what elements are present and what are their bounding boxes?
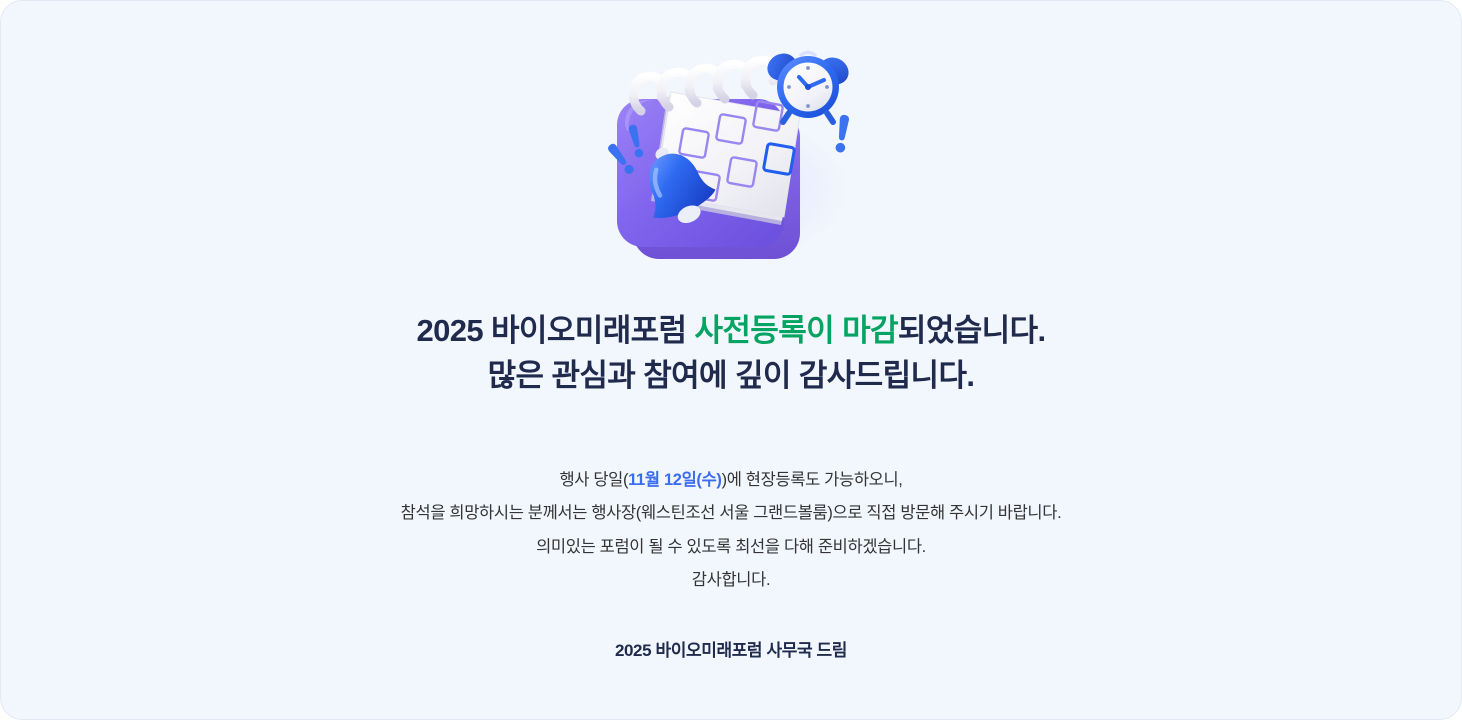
clock-marker — [806, 66, 810, 70]
body-highlight-event-date: 11월 12일(수) — [628, 471, 721, 489]
body-line-1-part-2: )에 현장등록도 가능하오니, — [722, 471, 903, 489]
page-title: 2025 바이오미래포럼 사전등록이 마감되었습니다. 많은 관심과 참여에 깊… — [416, 309, 1045, 399]
exclamation-dot — [835, 142, 846, 153]
headline-highlight-closed: 사전등록이 마감 — [694, 313, 897, 348]
body-line-4: 감사합니다. — [401, 564, 1062, 597]
clock-center-pin — [805, 84, 811, 90]
clock-marker — [787, 85, 791, 89]
notice-body-text: 행사 당일(11월 12일(수))에 현장등록도 가능하오니, 참석을 희망하시… — [401, 464, 1062, 598]
clock-marker — [806, 104, 810, 108]
headline-line-1-part-2: 되었습니다. — [898, 313, 1046, 348]
body-line-3: 의미있는 포럼이 될 수 있도록 최선을 다해 준비하겠습니다. — [401, 531, 1062, 564]
organizer-signature: 2025 바이오미래포럼 사무국 드림 — [615, 636, 847, 661]
body-line-2: 참석을 희망하시는 분께서는 행사장(웨스틴조선 서울 그랜드볼룸)으로 직접 … — [401, 497, 1062, 530]
headline-line-1: 2025 바이오미래포럼 사전등록이 마감되었습니다. — [416, 309, 1045, 354]
spiral-calendar — [617, 60, 800, 259]
exclamation-mark-right — [835, 114, 850, 153]
clock-knob — [801, 53, 815, 56]
headline-line-2: 많은 관심과 참여에 깊이 감사드립니다. — [416, 354, 1045, 399]
body-line-1-part-1: 행사 당일( — [559, 471, 628, 489]
clock-foot-right — [827, 113, 833, 122]
body-line-1: 행사 당일(11월 12일(수))에 현장등록도 가능하오니, — [401, 464, 1062, 497]
calendar-alarm-bell-illustration — [581, 39, 881, 271]
notice-page-card: 2025 바이오미래포럼 사전등록이 마감되었습니다. 많은 관심과 참여에 깊… — [0, 0, 1462, 720]
clock-marker — [825, 85, 829, 89]
headline-line-1-part-1: 2025 바이오미래포럼 — [416, 313, 694, 348]
exclamation-stem — [837, 114, 850, 141]
